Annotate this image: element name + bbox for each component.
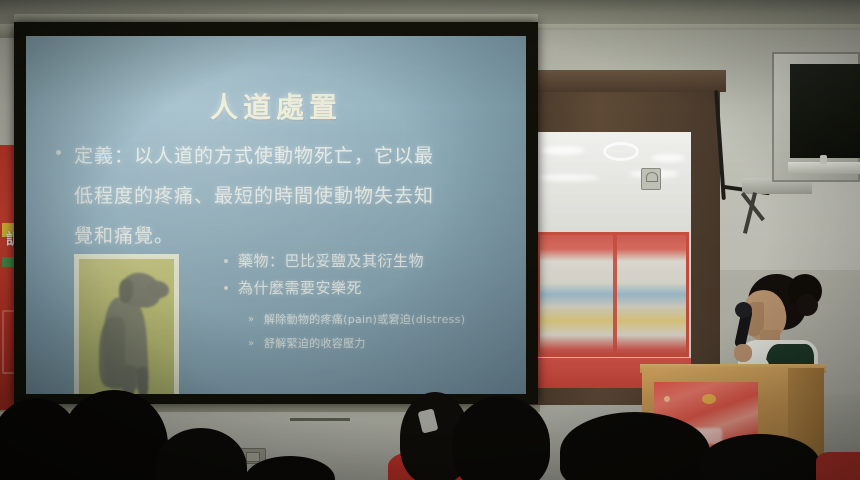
slide-sub-bullet-text: 藥物：巴比妥鹽及其衍生物 — [238, 252, 424, 270]
slide-sub-sub-bullet: » 舒解緊迫的收容壓力 — [248, 332, 526, 356]
slide-main-bullet: 定義：以人道的方式使動物死亡，它以最 低程度的疼痛、最短的時間使動物失去知 覺和… — [56, 136, 504, 256]
wall-mounted-tv — [772, 52, 860, 182]
presenter-hand — [734, 344, 752, 362]
slide-sub-bullet: 為什麼需要安樂死 — [222, 275, 522, 302]
dog-photo-inner — [79, 259, 174, 394]
poster-accent-dot — [664, 396, 670, 402]
chevron-marker-icon: » — [248, 339, 254, 349]
slide-bullet-line: 定義：以人道的方式使動物死亡，它以最 — [74, 136, 504, 176]
ceiling-light-reflection — [539, 174, 599, 181]
bright-doorway — [533, 132, 691, 388]
slide-sub-sub-bullet: » 解除動物的疼痛(pain)或窘迫(distress) — [248, 308, 526, 332]
wall-fixture — [641, 168, 661, 190]
slide-sub-bullets: 藥物：巴比妥鹽及其衍生物 為什麼需要安樂死 — [222, 248, 522, 302]
ring-light-reflection — [603, 142, 639, 161]
slide-sub-sub-bullet-text: 舒解緊迫的收容壓力 — [264, 337, 366, 350]
slide-sub-sub-bullets: » 解除動物的疼痛(pain)或窘迫(distress) » 舒解緊迫的收容壓力 — [248, 308, 526, 356]
microphone-head — [735, 302, 752, 318]
slide-bullet-line: 低程度的疼痛、最短的時間使動物失去知 — [74, 176, 504, 216]
ceiling-light-reflection — [541, 146, 585, 155]
projection-screen: 人道處置 定義：以人道的方式使動物死亡，它以最 低程度的疼痛、最短的時間使動物失… — [26, 36, 526, 394]
tv-knob — [820, 155, 827, 164]
chevron-marker-icon: » — [248, 315, 254, 325]
slide-title: 人道處置 — [26, 86, 526, 126]
slide-sub-sub-bullet-text: 解除動物的疼痛(pain)或窘迫(distress) — [264, 313, 465, 326]
photo-blur-overlay — [79, 259, 174, 394]
slide-sub-bullet-text: 為什麼需要安樂死 — [238, 279, 362, 297]
lecture-room-photo: 訓 人道處置 定義：以人道的方式使動物死亡，它以最 低程度的疼痛、最短的時間使動… — [0, 0, 860, 480]
door-lintel — [514, 70, 726, 92]
presenter-hair-bun-detail — [796, 294, 818, 316]
bullet-dot-icon — [224, 286, 228, 290]
wall-marking — [290, 418, 350, 421]
wall-poster — [537, 232, 689, 357]
ceiling-light-reflection — [651, 154, 685, 162]
slide-dog-photo — [74, 254, 179, 394]
slide-sub-bullet: 藥物：巴比妥鹽及其衍生物 — [222, 248, 522, 275]
audience-red-shirt — [816, 452, 860, 480]
bullet-dot-icon — [56, 150, 61, 155]
bullet-dot-icon — [224, 259, 228, 263]
poster-gold-accent — [702, 394, 716, 404]
poster-divider — [613, 235, 617, 354]
tv-screen — [790, 64, 860, 158]
